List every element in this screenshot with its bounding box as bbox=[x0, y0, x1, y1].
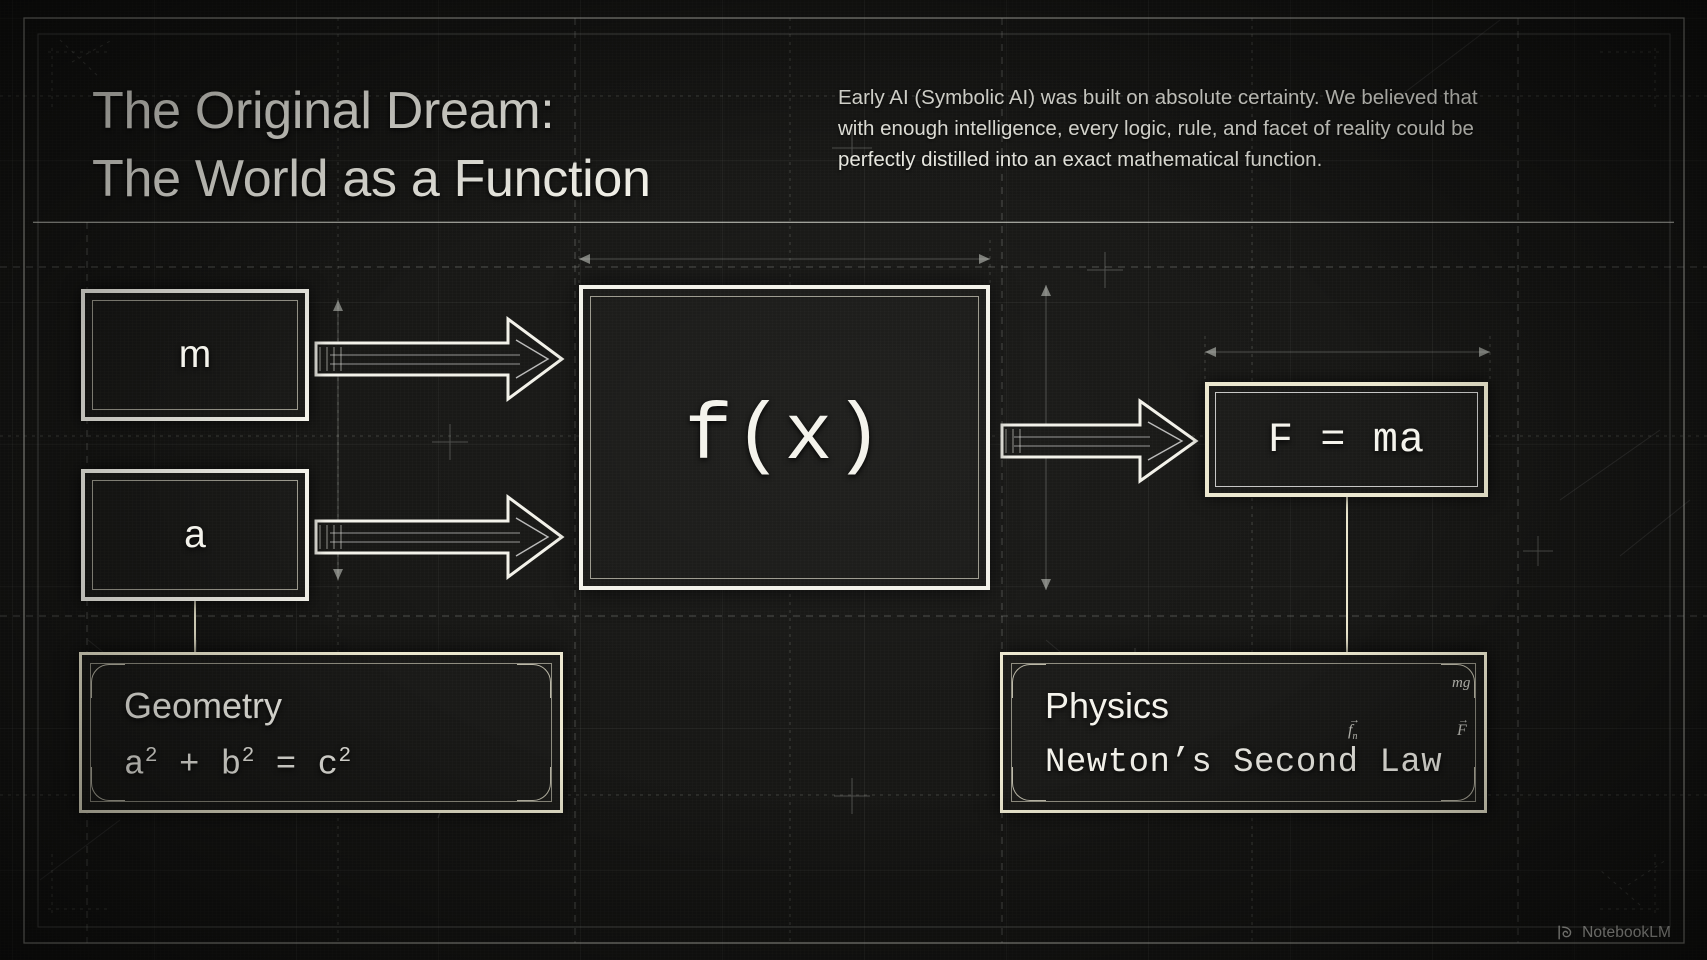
block-arrow-fx-to-fma bbox=[1002, 401, 1196, 481]
input-block-mass-label: m bbox=[179, 333, 212, 377]
intro-paragraph: Early AI (Symbolic AI) was built on abso… bbox=[838, 82, 1488, 175]
corner-bracket-bottom-left bbox=[91, 767, 125, 801]
fbd-label-weight: mg bbox=[1452, 675, 1470, 692]
corner-bracket-top-left bbox=[1012, 664, 1046, 698]
function-block: f(x) bbox=[579, 285, 990, 590]
domain-card-physics: Physics Newton’s Second Law bbox=[1000, 652, 1487, 813]
corner-bracket-top-left bbox=[91, 664, 125, 698]
brand-notebooklm: NotebookLM bbox=[1556, 923, 1671, 942]
corner-bracket-top-right bbox=[517, 664, 551, 698]
output-block-equation-label: F = ma bbox=[1268, 416, 1425, 464]
corner-bracket-bottom-left bbox=[1012, 767, 1046, 801]
fbd-label-friction: → fn bbox=[1348, 722, 1357, 742]
slide-canvas: .g { stroke:rgba(205,210,202,.30); fill:… bbox=[0, 0, 1707, 960]
domain-card-physics-heading: Physics bbox=[1045, 685, 1169, 727]
output-block-equation: F = ma bbox=[1205, 382, 1488, 497]
domain-card-geometry-formula: a2 + b2 = c2 bbox=[124, 744, 352, 784]
input-block-acceleration: a bbox=[81, 469, 309, 601]
block-arrow-m-to-fx bbox=[316, 319, 562, 399]
block-arrow-a-to-fx bbox=[316, 497, 562, 577]
header-divider bbox=[33, 222, 1674, 223]
notebooklm-spiral-icon bbox=[1556, 923, 1575, 942]
brand-label: NotebookLM bbox=[1582, 924, 1671, 942]
domain-card-geometry: Geometry a2 + b2 = c2 bbox=[79, 652, 563, 813]
page-title: The Original Dream: The World as a Funct… bbox=[92, 78, 651, 213]
input-block-mass: m bbox=[81, 289, 309, 421]
function-block-label: f(x) bbox=[684, 392, 884, 483]
domain-card-geometry-heading: Geometry bbox=[124, 685, 282, 727]
input-block-acceleration-label: a bbox=[184, 513, 206, 557]
domain-card-physics-subtitle: Newton’s Second Law bbox=[1045, 744, 1442, 782]
fbd-label-applied-force: → F bbox=[1457, 722, 1467, 740]
